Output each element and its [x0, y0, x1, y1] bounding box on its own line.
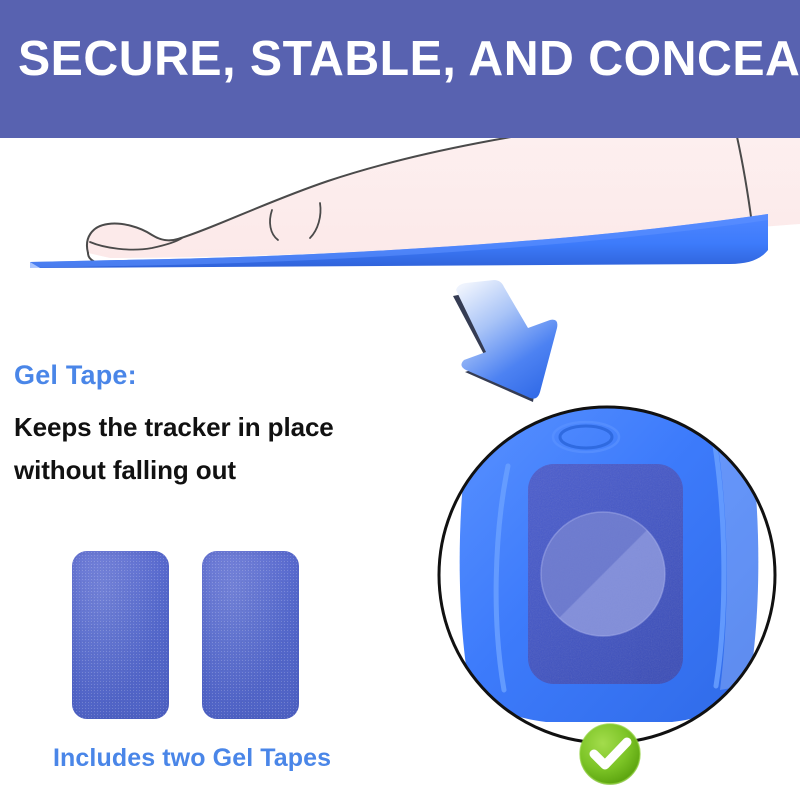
green-check-badge [577, 721, 643, 787]
green-check-badge-icon [577, 721, 643, 787]
product-infographic: SECURE, STABLE, AND CONCEALE [0, 0, 800, 800]
gel-tape-heading: Gel Tape: [14, 358, 434, 392]
foot-illustration [0, 138, 800, 288]
gel-tape-callout: Gel Tape: Keeps the tracker in place wit… [14, 358, 434, 492]
arrow-body [456, 280, 557, 399]
down-arrow [430, 278, 600, 413]
gel-tape-description-line-2: without falling out [14, 449, 434, 492]
gel-tape-pads [72, 551, 332, 721]
down-arrow-icon [430, 278, 600, 413]
gel-tape-description: Keeps the tracker in place without falli… [14, 406, 434, 492]
foot-side-profile-graphic [0, 138, 800, 288]
page-title: SECURE, STABLE, AND CONCEALE [18, 30, 800, 88]
insole-closeup-graphic [436, 404, 778, 746]
gel-tape-pads-caption: Includes two Gel Tapes [53, 742, 453, 774]
gel-tape-pad-right [202, 551, 299, 719]
header-banner: SECURE, STABLE, AND CONCEALE [0, 0, 800, 138]
gel-tape-description-line-1: Keeps the tracker in place [14, 406, 434, 449]
insole-closeup-inset [436, 404, 778, 746]
gel-tape-pad-left [72, 551, 169, 719]
